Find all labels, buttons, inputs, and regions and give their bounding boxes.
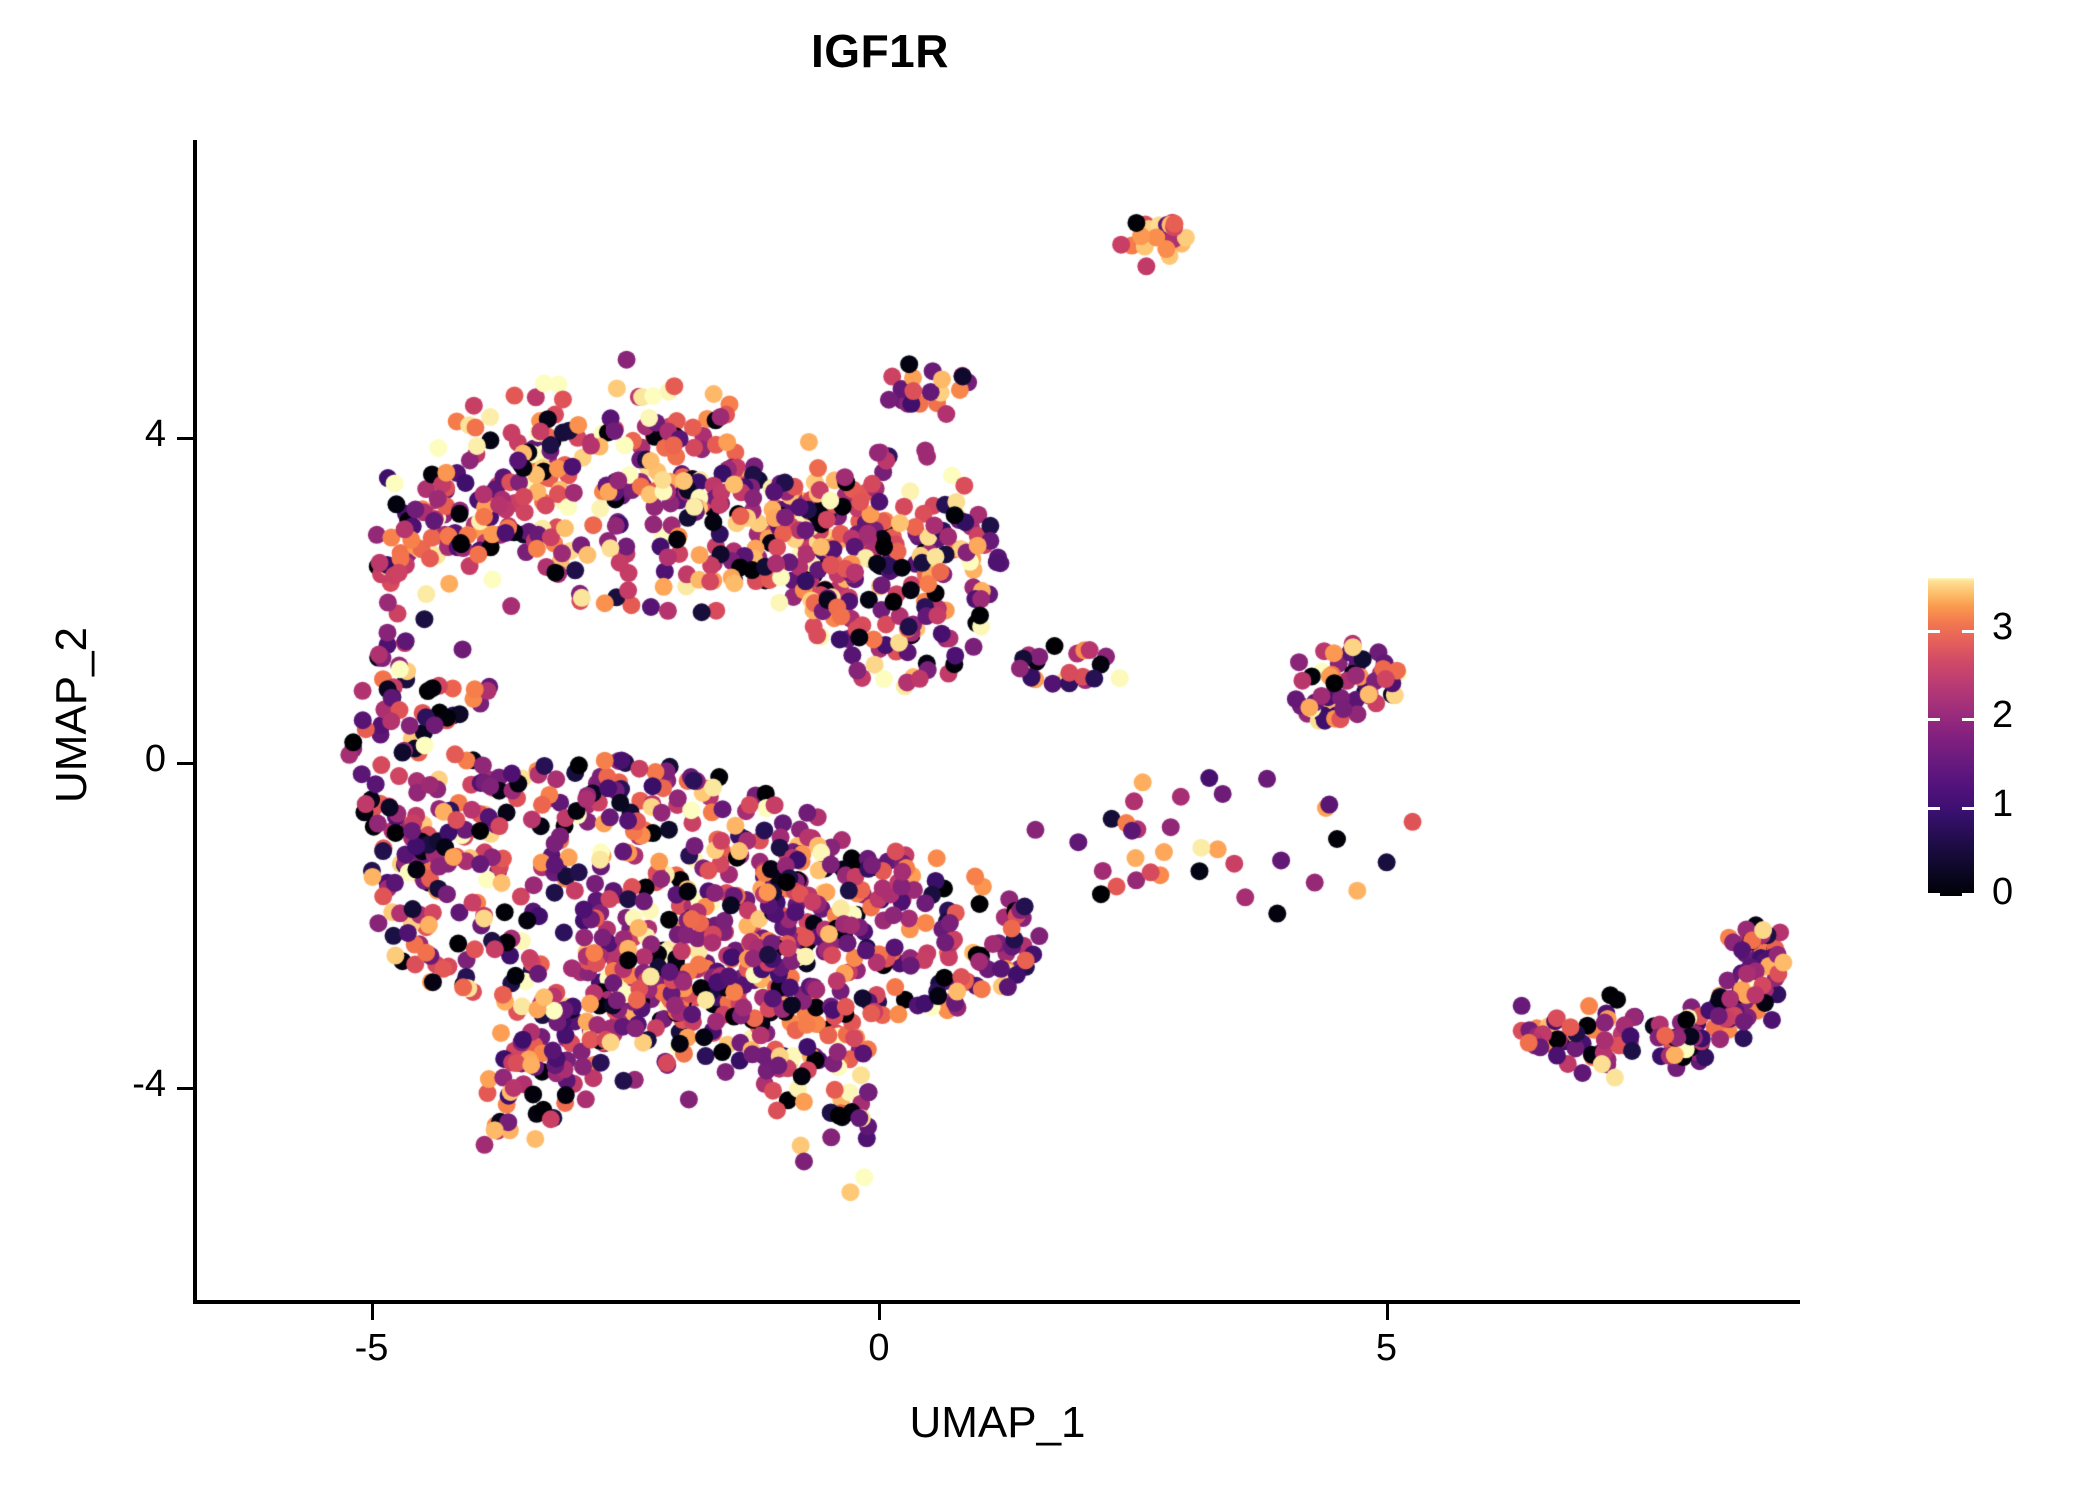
y-tick-mark xyxy=(177,437,193,440)
x-tick-mark xyxy=(371,1304,374,1320)
color-legend-gradient-bar xyxy=(1928,578,1974,896)
y-axis-line xyxy=(193,140,197,1304)
legend-tick-mark xyxy=(1962,630,1974,633)
legend-tick-mark xyxy=(1928,630,1940,633)
legend-tick-mark xyxy=(1928,718,1940,721)
x-tick-label: 5 xyxy=(1317,1327,1457,1370)
y-tick-mark xyxy=(177,762,193,765)
legend-tick-mark xyxy=(1928,807,1940,810)
chart-page: IGF1R 40-4 -505 UMAP_1 UMAP_2 3210 xyxy=(0,0,2100,1500)
x-axis-line xyxy=(195,1300,1800,1304)
legend-tick-label: 3 xyxy=(1992,606,2013,649)
x-axis-title: UMAP_1 xyxy=(195,1398,1800,1448)
color-legend: 3210 xyxy=(1928,578,2078,896)
scatter-points-layer xyxy=(195,140,1800,1302)
legend-tick-label: 0 xyxy=(1992,871,2013,914)
scatter-plot-panel xyxy=(195,140,1800,1302)
legend-tick-mark xyxy=(1962,893,1974,896)
x-tick-mark xyxy=(1386,1304,1389,1320)
legend-tick-label: 1 xyxy=(1992,783,2013,826)
legend-tick-mark xyxy=(1962,807,1974,810)
legend-tick-label: 2 xyxy=(1992,694,2013,737)
x-tick-label: -5 xyxy=(302,1327,442,1370)
legend-tick-mark xyxy=(1962,718,1974,721)
page-title: IGF1R xyxy=(0,24,1760,78)
y-axis-title: UMAP_2 xyxy=(47,355,97,1075)
y-tick-mark xyxy=(177,1087,193,1090)
x-tick-mark xyxy=(878,1304,881,1320)
legend-tick-mark xyxy=(1928,893,1940,896)
x-tick-label: 0 xyxy=(809,1327,949,1370)
